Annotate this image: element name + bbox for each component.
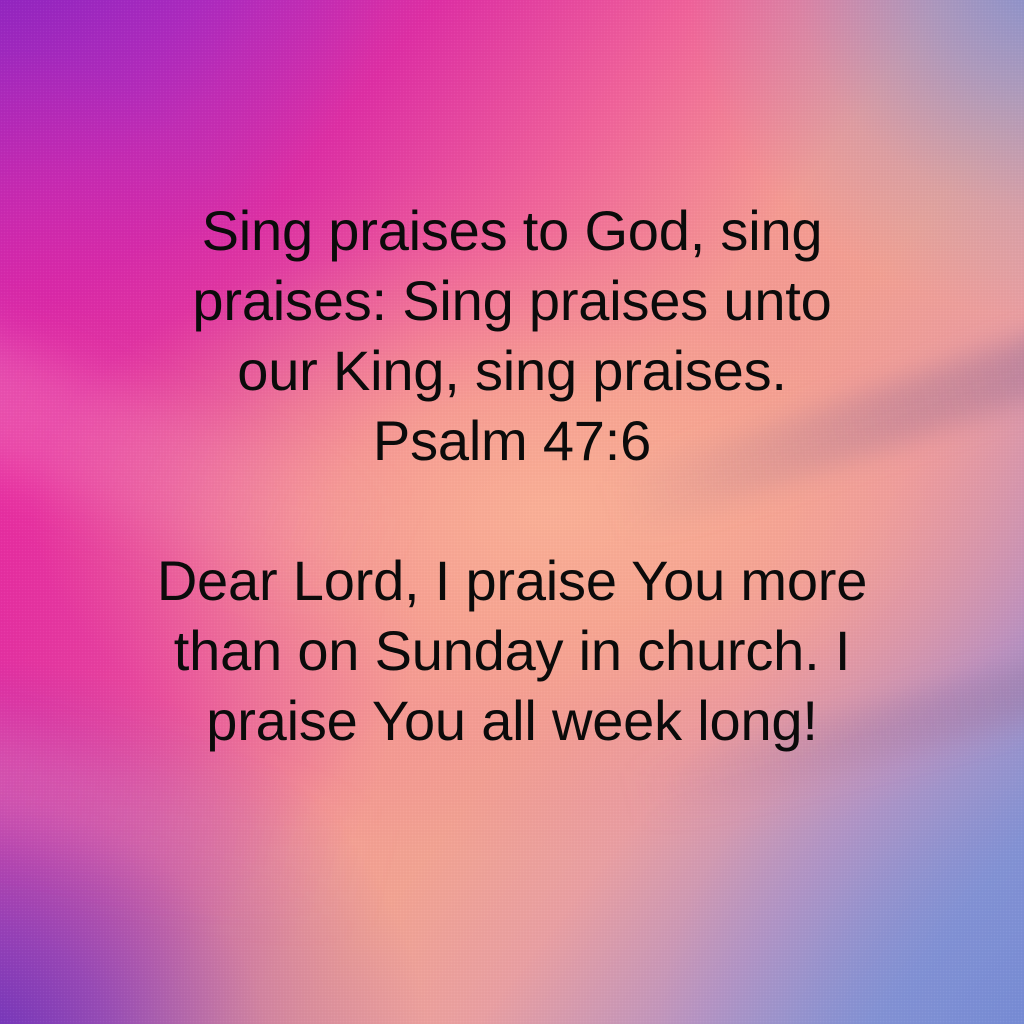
quote-graphic-canvas: Sing praises to God, sing praises: Sing … [0,0,1024,1024]
prayer-paragraph: Dear Lord, I praise You more than on Sun… [0,546,1024,756]
quote-text-block: Sing praises to God, sing praises: Sing … [0,196,1024,756]
scripture-paragraph: Sing praises to God, sing praises: Sing … [0,196,1024,476]
scripture-reference: Psalm 47:6 [148,406,876,476]
paragraph-spacer [0,476,1024,546]
prayer-text: Dear Lord, I praise You more than on Sun… [157,549,867,752]
scripture-text: Sing praises to God, sing praises: Sing … [192,199,831,402]
